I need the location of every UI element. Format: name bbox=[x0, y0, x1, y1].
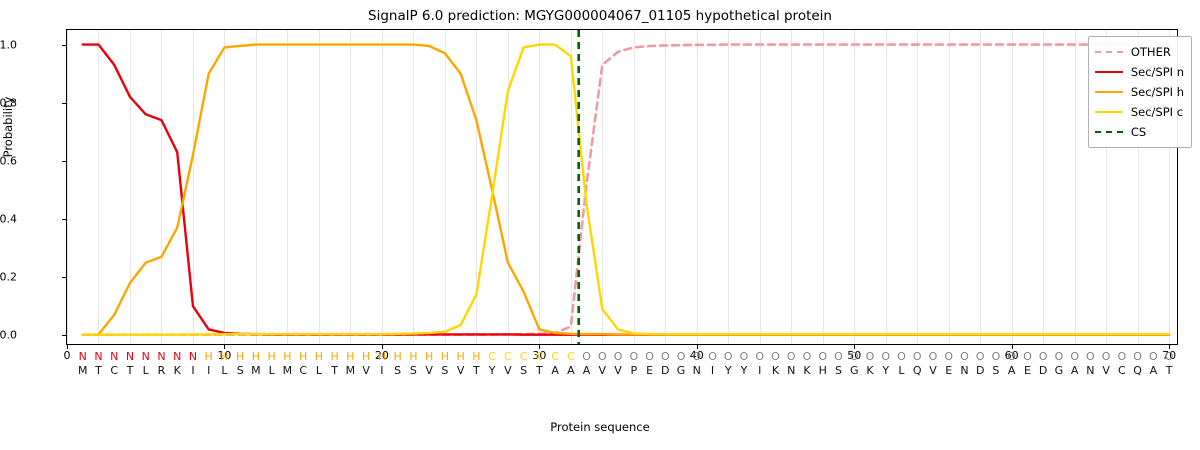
y-tick-label: 0.2 bbox=[0, 271, 17, 284]
x-tick-mark bbox=[1169, 345, 1170, 349]
state-label: O bbox=[925, 350, 941, 364]
state-label: O bbox=[720, 350, 736, 364]
residue-label: N bbox=[689, 364, 705, 378]
state-label: H bbox=[264, 350, 280, 364]
residue-label: T bbox=[1161, 364, 1177, 378]
residue-label: T bbox=[90, 364, 106, 378]
x-tick-mark bbox=[224, 345, 225, 349]
residue-label: D bbox=[1035, 364, 1051, 378]
x-tick-mark bbox=[1012, 345, 1013, 349]
series-sec-spi-h bbox=[83, 45, 1169, 335]
residue-label: A bbox=[1004, 364, 1020, 378]
residue-label: V bbox=[453, 364, 469, 378]
x-tick-mark bbox=[382, 345, 383, 349]
y-tick-mark bbox=[62, 161, 66, 162]
legend-item-other[interactable]: OTHER bbox=[1095, 42, 1184, 62]
legend-swatch bbox=[1095, 51, 1123, 53]
residue-label: I bbox=[752, 364, 768, 378]
state-label: C bbox=[531, 350, 547, 364]
x-axis-label: Protein sequence bbox=[0, 420, 1200, 434]
residue-label: T bbox=[327, 364, 343, 378]
state-label: H bbox=[390, 350, 406, 364]
residue-label: E bbox=[941, 364, 957, 378]
state-label: N bbox=[153, 350, 169, 364]
state-label: O bbox=[893, 350, 909, 364]
residue-label: D bbox=[657, 364, 673, 378]
state-label: H bbox=[453, 350, 469, 364]
residue-label: M bbox=[248, 364, 264, 378]
residue-label: E bbox=[1019, 364, 1035, 378]
state-label: O bbox=[626, 350, 642, 364]
state-label: O bbox=[689, 350, 705, 364]
signalp-prediction-figure: SignalP 6.0 prediction: MGYG000004067_01… bbox=[0, 0, 1200, 450]
state-label: C bbox=[484, 350, 500, 364]
state-label: N bbox=[185, 350, 201, 364]
state-label: O bbox=[846, 350, 862, 364]
state-label: O bbox=[610, 350, 626, 364]
residue-label: S bbox=[516, 364, 532, 378]
state-label: O bbox=[1051, 350, 1067, 364]
state-label: O bbox=[705, 350, 721, 364]
state-label: O bbox=[594, 350, 610, 364]
legend-label: Sec/SPI n bbox=[1131, 65, 1184, 79]
residue-label: H bbox=[815, 364, 831, 378]
state-label: O bbox=[941, 350, 957, 364]
residue-label: G bbox=[673, 364, 689, 378]
residue-label: G bbox=[1051, 364, 1067, 378]
residue-label: L bbox=[264, 364, 280, 378]
residue-label: C bbox=[1114, 364, 1130, 378]
residue-label: V bbox=[594, 364, 610, 378]
legend-item-sec-spi-h[interactable]: Sec/SPI h bbox=[1095, 82, 1184, 102]
state-label: O bbox=[972, 350, 988, 364]
state-label: C bbox=[516, 350, 532, 364]
state-label: O bbox=[673, 350, 689, 364]
state-label: O bbox=[1130, 350, 1146, 364]
legend-item-sec-spi-c[interactable]: Sec/SPI c bbox=[1095, 102, 1184, 122]
residue-label: E bbox=[642, 364, 658, 378]
residue-label: V bbox=[500, 364, 516, 378]
x-tick-mark bbox=[697, 345, 698, 349]
state-label: C bbox=[563, 350, 579, 364]
residue-label: L bbox=[216, 364, 232, 378]
residue-label: S bbox=[437, 364, 453, 378]
y-tick-mark bbox=[62, 335, 66, 336]
x-tick-mark bbox=[67, 345, 68, 349]
residue-label: I bbox=[201, 364, 217, 378]
residue-label: K bbox=[799, 364, 815, 378]
residue-label: A bbox=[579, 364, 595, 378]
state-label: H bbox=[311, 350, 327, 364]
state-label: O bbox=[1035, 350, 1051, 364]
state-label: H bbox=[358, 350, 374, 364]
state-label: H bbox=[232, 350, 248, 364]
chart-title: SignalP 6.0 prediction: MGYG000004067_01… bbox=[0, 8, 1200, 24]
residue-label: Q bbox=[1130, 364, 1146, 378]
state-label: O bbox=[830, 350, 846, 364]
state-label: H bbox=[327, 350, 343, 364]
legend-label: OTHER bbox=[1131, 45, 1171, 59]
state-label: O bbox=[815, 350, 831, 364]
residue-label: G bbox=[846, 364, 862, 378]
state-label: H bbox=[421, 350, 437, 364]
residue-label: A bbox=[547, 364, 563, 378]
state-label: N bbox=[122, 350, 138, 364]
state-label: O bbox=[736, 350, 752, 364]
state-annotation-row: NNNNNNNNHHHHHHHHHHHHHHHHHHCCCCCCOOOOOOOO… bbox=[0, 350, 1200, 364]
state-label: H bbox=[374, 350, 390, 364]
residue-label: V bbox=[421, 364, 437, 378]
series-sec-spi-n bbox=[83, 45, 1169, 335]
series-other bbox=[83, 45, 1169, 335]
residue-label: S bbox=[830, 364, 846, 378]
state-label: N bbox=[106, 350, 122, 364]
y-tick-mark bbox=[62, 277, 66, 278]
residue-label: M bbox=[75, 364, 91, 378]
state-label: C bbox=[547, 350, 563, 364]
state-label: O bbox=[1067, 350, 1083, 364]
state-label: H bbox=[216, 350, 232, 364]
residue-label: V bbox=[1098, 364, 1114, 378]
legend-swatch bbox=[1095, 111, 1123, 113]
state-label: N bbox=[138, 350, 154, 364]
legend-label: CS bbox=[1131, 125, 1146, 139]
state-label: H bbox=[405, 350, 421, 364]
state-label: O bbox=[752, 350, 768, 364]
residue-label: S bbox=[232, 364, 248, 378]
y-tick-label: 1.0 bbox=[0, 38, 17, 51]
residue-label: C bbox=[295, 364, 311, 378]
legend-swatch bbox=[1095, 71, 1123, 73]
state-label: O bbox=[1114, 350, 1130, 364]
residue-label: M bbox=[279, 364, 295, 378]
protein-sequence-row: MTCTLRKIILSMLMCLTMVISSVSVTYVSTAAAVVPEDGN… bbox=[0, 364, 1200, 378]
y-tick-mark bbox=[62, 45, 66, 46]
state-label: O bbox=[799, 350, 815, 364]
residue-label: V bbox=[925, 364, 941, 378]
residue-label: P bbox=[626, 364, 642, 378]
residue-label: M bbox=[342, 364, 358, 378]
state-label: H bbox=[295, 350, 311, 364]
residue-label: L bbox=[311, 364, 327, 378]
residue-label: N bbox=[783, 364, 799, 378]
state-label: N bbox=[169, 350, 185, 364]
state-label: O bbox=[1145, 350, 1161, 364]
state-label: O bbox=[768, 350, 784, 364]
residue-label: C bbox=[106, 364, 122, 378]
legend-swatch bbox=[1095, 91, 1123, 93]
residue-label: R bbox=[153, 364, 169, 378]
residue-label: Y bbox=[736, 364, 752, 378]
state-label: H bbox=[279, 350, 295, 364]
state-label: H bbox=[468, 350, 484, 364]
residue-label: A bbox=[563, 364, 579, 378]
state-label: N bbox=[90, 350, 106, 364]
residue-label: I bbox=[705, 364, 721, 378]
residue-label: T bbox=[531, 364, 547, 378]
residue-label: K bbox=[862, 364, 878, 378]
y-tick-mark bbox=[62, 219, 66, 220]
x-tick-mark bbox=[854, 345, 855, 349]
series-sec-spi-c bbox=[83, 45, 1169, 335]
state-label: O bbox=[909, 350, 925, 364]
legend: OTHERSec/SPI nSec/SPI hSec/SPI cCS bbox=[1088, 36, 1192, 148]
residue-label: L bbox=[893, 364, 909, 378]
state-label: H bbox=[342, 350, 358, 364]
state-label: N bbox=[75, 350, 91, 364]
state-label: O bbox=[1098, 350, 1114, 364]
y-tick-mark bbox=[62, 103, 66, 104]
state-label: O bbox=[1161, 350, 1177, 364]
legend-label: Sec/SPI h bbox=[1131, 85, 1184, 99]
state-label: O bbox=[862, 350, 878, 364]
state-label: O bbox=[642, 350, 658, 364]
residue-label: I bbox=[374, 364, 390, 378]
state-label: O bbox=[878, 350, 894, 364]
state-label: O bbox=[783, 350, 799, 364]
residue-label: V bbox=[358, 364, 374, 378]
legend-swatch bbox=[1095, 131, 1123, 133]
residue-label: L bbox=[138, 364, 154, 378]
state-label: O bbox=[988, 350, 1004, 364]
state-label: H bbox=[248, 350, 264, 364]
state-label: O bbox=[1019, 350, 1035, 364]
residue-label: K bbox=[768, 364, 784, 378]
residue-label: N bbox=[1082, 364, 1098, 378]
residue-label: T bbox=[468, 364, 484, 378]
residue-label: K bbox=[169, 364, 185, 378]
residue-label: S bbox=[988, 364, 1004, 378]
series-lines bbox=[67, 30, 1177, 344]
legend-item-sec-spi-n[interactable]: Sec/SPI n bbox=[1095, 62, 1184, 82]
residue-label: S bbox=[390, 364, 406, 378]
residue-label: Q bbox=[909, 364, 925, 378]
residue-label: V bbox=[610, 364, 626, 378]
residue-label: A bbox=[1067, 364, 1083, 378]
legend-label: Sec/SPI c bbox=[1131, 105, 1183, 119]
legend-item-cs[interactable]: CS bbox=[1095, 122, 1184, 142]
residue-label: D bbox=[972, 364, 988, 378]
state-label: O bbox=[579, 350, 595, 364]
state-label: C bbox=[500, 350, 516, 364]
residue-label: S bbox=[405, 364, 421, 378]
residue-label: Y bbox=[720, 364, 736, 378]
residue-label: A bbox=[1145, 364, 1161, 378]
residue-label: Y bbox=[878, 364, 894, 378]
plot-area bbox=[66, 29, 1178, 345]
residue-label: I bbox=[185, 364, 201, 378]
residue-label: Y bbox=[484, 364, 500, 378]
y-axis-label: Probability bbox=[1, 67, 15, 187]
residue-label: T bbox=[122, 364, 138, 378]
state-label: H bbox=[201, 350, 217, 364]
state-label: O bbox=[956, 350, 972, 364]
state-label: O bbox=[1004, 350, 1020, 364]
state-label: H bbox=[437, 350, 453, 364]
residue-label: N bbox=[956, 364, 972, 378]
y-tick-label: 0.4 bbox=[0, 212, 17, 225]
state-label: O bbox=[657, 350, 673, 364]
y-tick-label: 0.0 bbox=[0, 329, 17, 342]
x-tick-mark bbox=[539, 345, 540, 349]
state-label: O bbox=[1082, 350, 1098, 364]
